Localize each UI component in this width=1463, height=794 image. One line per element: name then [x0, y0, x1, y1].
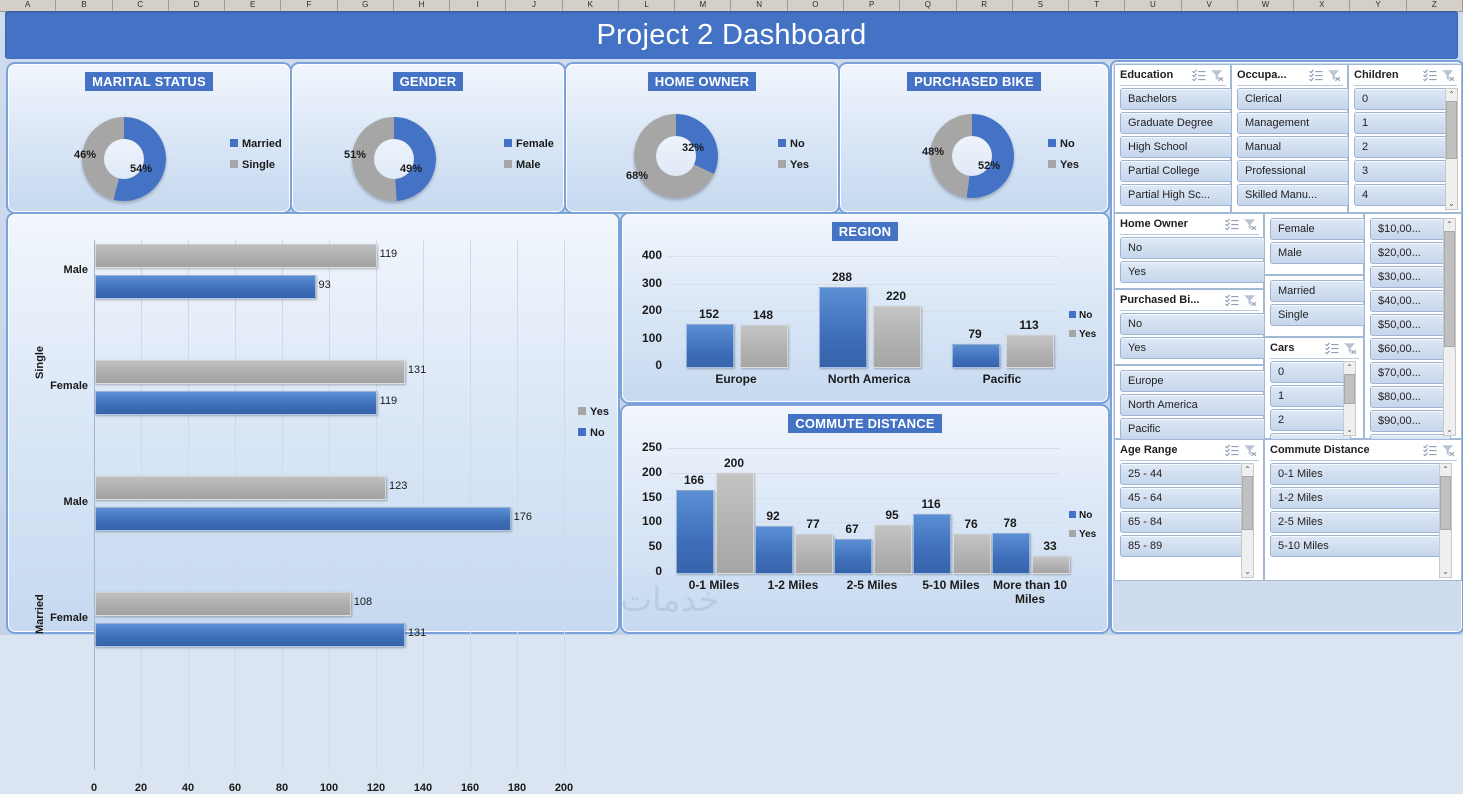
legend-swatch: [778, 160, 786, 168]
slicer-item[interactable]: Partial College: [1120, 160, 1233, 182]
legend-item: Yes: [578, 402, 609, 423]
donut-value-label-primary: 54%: [130, 163, 152, 175]
kpi-card-title-text: MARITAL STATUS: [85, 72, 213, 91]
slicer-panel: EducationBachelorsGraduate DegreeHigh Sc…: [1110, 60, 1463, 634]
legend-label: No: [590, 427, 605, 439]
scroll-up-arrow[interactable]: ⌃: [1242, 464, 1253, 475]
legend-label: Married: [242, 138, 282, 150]
slicer-header-divider: [1270, 358, 1359, 359]
x-axis-category-label: 2-5 Miles: [830, 578, 914, 592]
column-header-j[interactable]: J: [506, 0, 562, 11]
slicer-item[interactable]: Female: [1270, 218, 1367, 240]
slicer-item[interactable]: Pacific: [1120, 418, 1266, 440]
bar-yes: [95, 476, 386, 500]
slicer-header-divider: [1270, 460, 1457, 461]
slicer-item[interactable]: 0-1 Miles: [1270, 463, 1447, 485]
column-header-s[interactable]: S: [1013, 0, 1069, 11]
x-axis-tick: 160: [450, 782, 490, 794]
donut-value-label-primary: 49%: [400, 163, 422, 175]
slicer-item[interactable]: 3: [1354, 160, 1451, 182]
slicer-item[interactable]: Yes: [1120, 261, 1266, 283]
multi-select-icon[interactable]: [1423, 69, 1437, 83]
gridline: [329, 240, 330, 770]
column-header-a[interactable]: A: [0, 0, 56, 11]
slicer-item[interactable]: Management: [1237, 112, 1350, 134]
kpi-card-purchased-bike: PURCHASED BIKE52%48%NoYes: [838, 62, 1110, 214]
legend-item: No: [1048, 134, 1079, 155]
scroll-down-arrow[interactable]: ⌄: [1446, 198, 1457, 209]
slicer-item[interactable]: 45 - 64: [1120, 487, 1249, 509]
bar-value-label: 33: [1026, 539, 1074, 553]
column-header-i[interactable]: I: [450, 0, 506, 11]
bar-no: [819, 287, 867, 368]
slicer-item[interactable]: 65 - 84: [1120, 511, 1249, 533]
slicer-item[interactable]: $60,00...: [1370, 338, 1451, 360]
legend-label: Yes: [1060, 159, 1079, 171]
scroll-thumb[interactable]: [1242, 476, 1253, 530]
scroll-thumb[interactable]: [1440, 476, 1451, 530]
bar-yes: [1006, 335, 1054, 368]
y-axis-tick: 400: [628, 248, 662, 262]
legend-label: Female: [516, 138, 554, 150]
slicer-item[interactable]: 25 - 44: [1120, 463, 1249, 485]
legend-swatch: [1048, 139, 1056, 147]
legend-swatch: [1048, 160, 1056, 168]
slicer-education[interactable]: EducationBachelorsGraduate DegreeHigh Sc…: [1114, 64, 1231, 213]
legend-swatch: [578, 428, 586, 436]
commute-bar-plot: 0501001502002501662000-1 Miles92771-2 Mi…: [622, 406, 1108, 632]
slicer-income[interactable]: $10,00...$20,00...$30,00...$40,00...$50,…: [1364, 213, 1462, 439]
multi-select-icon[interactable]: [1192, 69, 1206, 83]
y-axis-tick: 100: [628, 514, 662, 528]
clear-filter-icon[interactable]: [1243, 218, 1257, 232]
slicer-item[interactable]: $90,00...: [1370, 410, 1451, 432]
column-header-g[interactable]: G: [338, 0, 394, 11]
slicer-item[interactable]: 2: [1354, 136, 1451, 158]
donut-chart: [634, 114, 718, 198]
y-axis-tick: 250: [628, 440, 662, 454]
bar-no: [755, 526, 793, 574]
legend-item: Yes: [1048, 155, 1079, 176]
kpi-card-gender: GENDER49%51%FemaleMale: [290, 62, 566, 214]
legend-swatch: [778, 139, 786, 147]
multi-select-icon[interactable]: [1325, 342, 1339, 356]
donut-legend: FemaleMale: [504, 134, 554, 176]
scroll-down-arrow[interactable]: ⌄: [1344, 424, 1355, 435]
slicer-header-divider: [1354, 85, 1457, 86]
legend-swatch: [230, 160, 238, 168]
column-header-x[interactable]: X: [1294, 0, 1350, 11]
scroll-thumb[interactable]: [1344, 374, 1355, 404]
donut-value-label-secondary: 68%: [626, 170, 648, 182]
column-header-b[interactable]: B: [56, 0, 112, 11]
x-axis-category-label: 1-2 Miles: [751, 578, 835, 592]
slicer-scrollbar[interactable]: ⌃⌄: [1443, 218, 1456, 436]
x-axis-category-label: North America: [809, 372, 929, 386]
slicer-item[interactable]: Partial High Sc...: [1120, 184, 1233, 206]
y-axis-tick: 100: [628, 331, 662, 345]
slicer-agerange[interactable]: Age Range25 - 4445 - 6465 - 8485 - 89⌃⌄: [1114, 439, 1264, 581]
scroll-down-arrow[interactable]: ⌄: [1444, 424, 1455, 435]
bar-yes: [873, 306, 921, 369]
multi-select-icon[interactable]: [1309, 69, 1323, 83]
multi-select-icon[interactable]: [1225, 294, 1239, 308]
column-header-o[interactable]: O: [788, 0, 844, 11]
slicer-item[interactable]: No: [1120, 313, 1266, 335]
legend-label: Yes: [1079, 529, 1096, 540]
bar-no: [992, 533, 1030, 574]
column-header-d[interactable]: D: [169, 0, 225, 11]
x-axis-tick: 20: [121, 782, 161, 794]
slicer-title: Commute Distance: [1270, 444, 1370, 456]
kpi-card-title-text: GENDER: [393, 72, 464, 91]
gridline: [564, 240, 565, 770]
slicer-title: Cars: [1270, 342, 1294, 354]
clear-filter-icon[interactable]: [1327, 69, 1341, 83]
column-header-n[interactable]: N: [731, 0, 787, 11]
x-axis-tick: 200: [544, 782, 584, 794]
column-header-e[interactable]: E: [225, 0, 281, 11]
gridline: [668, 448, 1060, 449]
legend-label: Yes: [590, 406, 609, 418]
legend-item: Yes: [1069, 525, 1096, 544]
bar-value-label: 79: [946, 327, 1004, 341]
slicer-region[interactable]: EuropeNorth AmericaPacific: [1114, 365, 1264, 439]
slicer-header-divider: [1120, 310, 1259, 311]
bar-value-label: 131: [408, 627, 426, 639]
slicer-item[interactable]: Graduate Degree: [1120, 112, 1233, 134]
slicer-item[interactable]: Single: [1270, 304, 1367, 326]
bar-no: [95, 391, 377, 415]
gridline: [423, 240, 424, 770]
slicer-item[interactable]: 1: [1270, 385, 1351, 407]
slicer-purchased[interactable]: Purchased Bi...NoYes: [1114, 289, 1264, 365]
scroll-up-arrow[interactable]: ⌃: [1344, 362, 1355, 373]
column-header-y[interactable]: Y: [1350, 0, 1406, 11]
legend-item: Single: [230, 155, 282, 176]
bar-value-label: 123: [389, 480, 407, 492]
dashboard-title-bar: Project 2 Dashboard: [5, 11, 1458, 59]
bar-value-label: 166: [670, 473, 718, 487]
donut-ring: [634, 114, 718, 198]
slicer-header-divider: [1120, 234, 1259, 235]
slicer-item[interactable]: Male: [1270, 242, 1367, 264]
slicer-cars[interactable]: Cars0123⌃⌄: [1264, 337, 1364, 439]
slicer-marital[interactable]: MarriedSingle: [1264, 275, 1364, 337]
group-axis-label: Married: [34, 594, 46, 634]
multi-select-icon[interactable]: [1225, 444, 1239, 458]
slicer-item[interactable]: 1: [1354, 112, 1451, 134]
x-axis-tick: 60: [215, 782, 255, 794]
donut-value-label-secondary: 51%: [344, 149, 366, 161]
column-header-f[interactable]: F: [281, 0, 337, 11]
bar-no: [686, 324, 734, 368]
chart-legend: NoYes: [1069, 306, 1096, 344]
x-axis-tick: 120: [356, 782, 396, 794]
gridline: [235, 240, 236, 770]
legend-label: No: [1079, 310, 1092, 321]
slicer-item[interactable]: 2: [1270, 409, 1351, 431]
clear-filter-icon[interactable]: [1441, 444, 1455, 458]
slicer-scrollbar[interactable]: ⌃⌄: [1241, 463, 1254, 578]
legend-item: Male: [504, 155, 554, 176]
slicer-item[interactable]: 2-5 Miles: [1270, 511, 1447, 533]
slicer-item[interactable]: Professional: [1237, 160, 1350, 182]
slicer-item[interactable]: $40,00...: [1370, 290, 1451, 312]
slicer-commute[interactable]: Commute Distance0-1 Miles1-2 Miles2-5 Mi…: [1264, 439, 1462, 581]
slicer-item[interactable]: $20,00...: [1370, 242, 1451, 264]
bar-value-label: 220: [867, 289, 925, 303]
legend-swatch: [578, 407, 586, 415]
bar-value-label: 152: [680, 307, 738, 321]
value-axis-line: [94, 240, 95, 770]
bar-value-label: 200: [710, 456, 758, 470]
slicer-item[interactable]: 4: [1354, 184, 1451, 206]
legend-item: Married: [230, 134, 282, 155]
legend-item: No: [1069, 506, 1096, 525]
kpi-card-marital-status: MARITAL STATUS54%46%MarriedSingle: [6, 62, 292, 214]
kpi-card-title: GENDER: [292, 72, 564, 91]
legend-label: Yes: [790, 159, 809, 171]
slicer-item[interactable]: $30,00...: [1370, 266, 1451, 288]
x-axis-tick: 0: [74, 782, 114, 794]
bar-yes: [874, 525, 912, 574]
dashboard-root: ABCDEFGHIJKLMNOPQRSTUVWXYZ Project 2 Das…: [0, 0, 1463, 635]
column-header-t[interactable]: T: [1069, 0, 1125, 11]
bar-yes: [95, 360, 405, 384]
bar-value-label: 93: [319, 279, 331, 291]
column-header-w[interactable]: W: [1238, 0, 1294, 11]
slicer-item[interactable]: Europe: [1120, 370, 1266, 392]
x-axis-tick: 80: [262, 782, 302, 794]
clear-filter-icon[interactable]: [1343, 342, 1357, 356]
donut-value-label-secondary: 48%: [922, 146, 944, 158]
kpi-card-title: PURCHASED BIKE: [840, 72, 1108, 91]
bar-value-label: 148: [734, 308, 792, 322]
group-axis-label: Single: [34, 346, 46, 379]
bar-value-label: 119: [380, 395, 398, 407]
region-chart-card: REGION 0100200300400152148Europe288220No…: [620, 212, 1110, 404]
chart-legend: YesNo: [578, 402, 609, 444]
scroll-down-arrow[interactable]: ⌄: [1242, 566, 1253, 577]
slicer-item[interactable]: Yes: [1120, 337, 1266, 359]
bar-no: [913, 514, 951, 574]
column-header-z[interactable]: Z: [1407, 0, 1463, 11]
y-axis-tick: 0: [628, 564, 662, 578]
bar-yes: [740, 325, 788, 368]
bar-no: [95, 623, 405, 647]
x-axis-category-label: 5-10 Miles: [909, 578, 993, 592]
column-header-c[interactable]: C: [113, 0, 169, 11]
slicer-header: Age Range: [1120, 443, 1259, 460]
y-axis-tick: 200: [628, 465, 662, 479]
legend-label: No: [1060, 138, 1075, 150]
x-axis-category-label: More than 10 Miles: [988, 578, 1072, 606]
slicer-title: Home Owner: [1120, 218, 1188, 230]
gridline: [517, 240, 518, 770]
bar-no: [95, 275, 316, 299]
multi-select-icon[interactable]: [1225, 218, 1239, 232]
slicer-item[interactable]: $70,00...: [1370, 362, 1451, 384]
bar-value-label: 113: [1000, 318, 1058, 332]
legend-swatch: [1069, 511, 1076, 518]
bar-value-label: 131: [408, 364, 426, 376]
slicer-header: Purchased Bi...: [1120, 293, 1259, 310]
slicer-item[interactable]: 85 - 89: [1120, 535, 1249, 557]
gridline: [470, 240, 471, 770]
x-axis-category-label: Pacific: [942, 372, 1062, 386]
x-axis-category-label: 0-1 Miles: [672, 578, 756, 592]
scroll-down-arrow[interactable]: ⌄: [1440, 566, 1451, 577]
bar-value-label: 288: [813, 270, 871, 284]
clear-filter-icon[interactable]: [1243, 294, 1257, 308]
scroll-thumb[interactable]: [1446, 101, 1457, 159]
y-axis-tick: 300: [628, 276, 662, 290]
clear-filter-icon[interactable]: [1441, 69, 1455, 83]
horizontal-bar-plot: 11993Male131119Female123176Male108131Fem…: [8, 214, 618, 632]
slicer-item[interactable]: North America: [1120, 394, 1266, 416]
y-axis-tick: 50: [628, 539, 662, 553]
bar-value-label: 176: [514, 511, 532, 523]
bar-yes: [95, 244, 377, 268]
slicer-item[interactable]: High School: [1120, 136, 1233, 158]
x-axis-tick: 140: [403, 782, 443, 794]
scroll-up-arrow[interactable]: ⌃: [1446, 89, 1457, 100]
slicer-header: Education: [1120, 68, 1226, 85]
legend-swatch: [1069, 530, 1076, 537]
donut-legend: NoYes: [778, 134, 809, 176]
slicer-item[interactable]: 0: [1270, 361, 1351, 383]
bar-value-label: 67: [828, 522, 876, 536]
column-header-u[interactable]: U: [1125, 0, 1181, 11]
legend-label: No: [1079, 510, 1092, 521]
bar-yes: [795, 534, 833, 574]
clear-filter-icon[interactable]: [1243, 444, 1257, 458]
legend-label: No: [790, 138, 805, 150]
gridline: [282, 240, 283, 770]
y-axis-tick: 150: [628, 490, 662, 504]
bar-value-label: 78: [986, 516, 1034, 530]
column-header-q[interactable]: Q: [900, 0, 956, 11]
slicer-occupation[interactable]: Occupa...ClericalManagementManualProfess…: [1231, 64, 1348, 213]
donut-value-label-secondary: 46%: [74, 149, 96, 161]
legend-item: Yes: [778, 155, 809, 176]
legend-item: Female: [504, 134, 554, 155]
page-title: Project 2 Dashboard: [596, 19, 866, 52]
slicer-item[interactable]: $10,00...: [1370, 218, 1451, 240]
column-header-m[interactable]: M: [675, 0, 731, 11]
x-axis-tick: 100: [309, 782, 349, 794]
slicer-header: Children: [1354, 68, 1457, 85]
legend-swatch: [230, 139, 238, 147]
slicer-item[interactable]: Bachelors: [1120, 88, 1233, 110]
legend-label: Yes: [1079, 329, 1096, 340]
donut-legend: NoYes: [1048, 134, 1079, 176]
bar-yes: [716, 473, 754, 574]
bar-no: [676, 490, 714, 574]
column-header-k[interactable]: K: [563, 0, 619, 11]
gridline: [188, 240, 189, 770]
slicer-header-divider: [1120, 460, 1259, 461]
multi-select-icon[interactable]: [1423, 444, 1437, 458]
clear-filter-icon[interactable]: [1210, 69, 1224, 83]
category-label: Female: [16, 380, 88, 392]
scroll-up-arrow[interactable]: ⌃: [1444, 219, 1455, 230]
slicer-title: Occupa...: [1237, 69, 1287, 81]
slicer-title: Children: [1354, 69, 1399, 81]
slicer-header-divider: [1120, 85, 1226, 86]
slicer-item[interactable]: $80,00...: [1370, 386, 1451, 408]
donut-value-label-primary: 32%: [682, 142, 704, 154]
y-axis-tick: 0: [628, 358, 662, 372]
column-header-p[interactable]: P: [844, 0, 900, 11]
region-bar-plot: 0100200300400152148Europe288220North Ame…: [622, 214, 1108, 402]
slicer-scrollbar[interactable]: ⌃⌄: [1445, 88, 1458, 210]
slicer-item[interactable]: Skilled Manu...: [1237, 184, 1350, 206]
marital-gender-bar-chart-card: 11993Male131119Female123176Male108131Fem…: [6, 212, 620, 634]
slicer-title: Age Range: [1120, 444, 1177, 456]
slicer-scrollbar[interactable]: ⌃⌄: [1439, 463, 1452, 578]
slicer-gender[interactable]: FemaleMale: [1264, 213, 1364, 275]
slicer-children[interactable]: Children01234⌃⌄: [1348, 64, 1462, 213]
category-label: Male: [16, 496, 88, 508]
chart-legend: NoYes: [1069, 506, 1096, 544]
legend-swatch: [504, 139, 512, 147]
x-axis-tick: 180: [497, 782, 537, 794]
bar-no: [952, 344, 1000, 368]
legend-item: Yes: [1069, 325, 1096, 344]
kpi-card-title-text: HOME OWNER: [648, 72, 756, 91]
gridline: [376, 240, 377, 770]
slicer-item[interactable]: $50,00...: [1370, 314, 1451, 336]
slicer-header-divider: [1237, 85, 1343, 86]
column-header-l[interactable]: L: [619, 0, 675, 11]
legend-swatch: [1069, 330, 1076, 337]
slicer-homeowner[interactable]: Home OwnerNoYes: [1114, 213, 1264, 289]
legend-swatch: [1069, 311, 1076, 318]
slicer-item[interactable]: 1-2 Miles: [1270, 487, 1447, 509]
slicer-item[interactable]: Married: [1270, 280, 1367, 302]
slicer-header: Cars: [1270, 341, 1359, 358]
scroll-up-arrow[interactable]: ⌃: [1440, 464, 1451, 475]
slicer-header: Home Owner: [1120, 217, 1259, 234]
bar-yes: [95, 592, 351, 616]
category-label: Male: [16, 264, 88, 276]
column-header-h[interactable]: H: [394, 0, 450, 11]
slicer-title: Purchased Bi...: [1120, 294, 1199, 306]
column-header-v[interactable]: V: [1182, 0, 1238, 11]
donut-value-label-primary: 52%: [978, 160, 1000, 172]
slicer-scrollbar[interactable]: ⌃⌄: [1343, 361, 1356, 436]
bar-no: [95, 507, 511, 531]
commute-chart-card: COMMUTE DISTANCE 0501001502002501662000-…: [620, 404, 1110, 634]
legend-label: Male: [516, 159, 540, 171]
slicer-item[interactable]: Manual: [1237, 136, 1350, 158]
scroll-thumb[interactable]: [1444, 231, 1455, 347]
legend-label: Single: [242, 159, 275, 171]
slicer-item[interactable]: No: [1120, 237, 1266, 259]
kpi-card-home-owner: HOME OWNER32%68%NoYes: [564, 62, 840, 214]
donut-legend: MarriedSingle: [230, 134, 282, 176]
slicer-item[interactable]: 0: [1354, 88, 1451, 110]
slicer-item[interactable]: Clerical: [1237, 88, 1350, 110]
column-header-r[interactable]: R: [957, 0, 1013, 11]
bar-no: [834, 539, 872, 574]
kpi-card-title: MARITAL STATUS: [8, 72, 290, 91]
legend-item: No: [778, 134, 809, 155]
slicer-item[interactable]: 5-10 Miles: [1270, 535, 1447, 557]
gridline: [668, 256, 1058, 257]
